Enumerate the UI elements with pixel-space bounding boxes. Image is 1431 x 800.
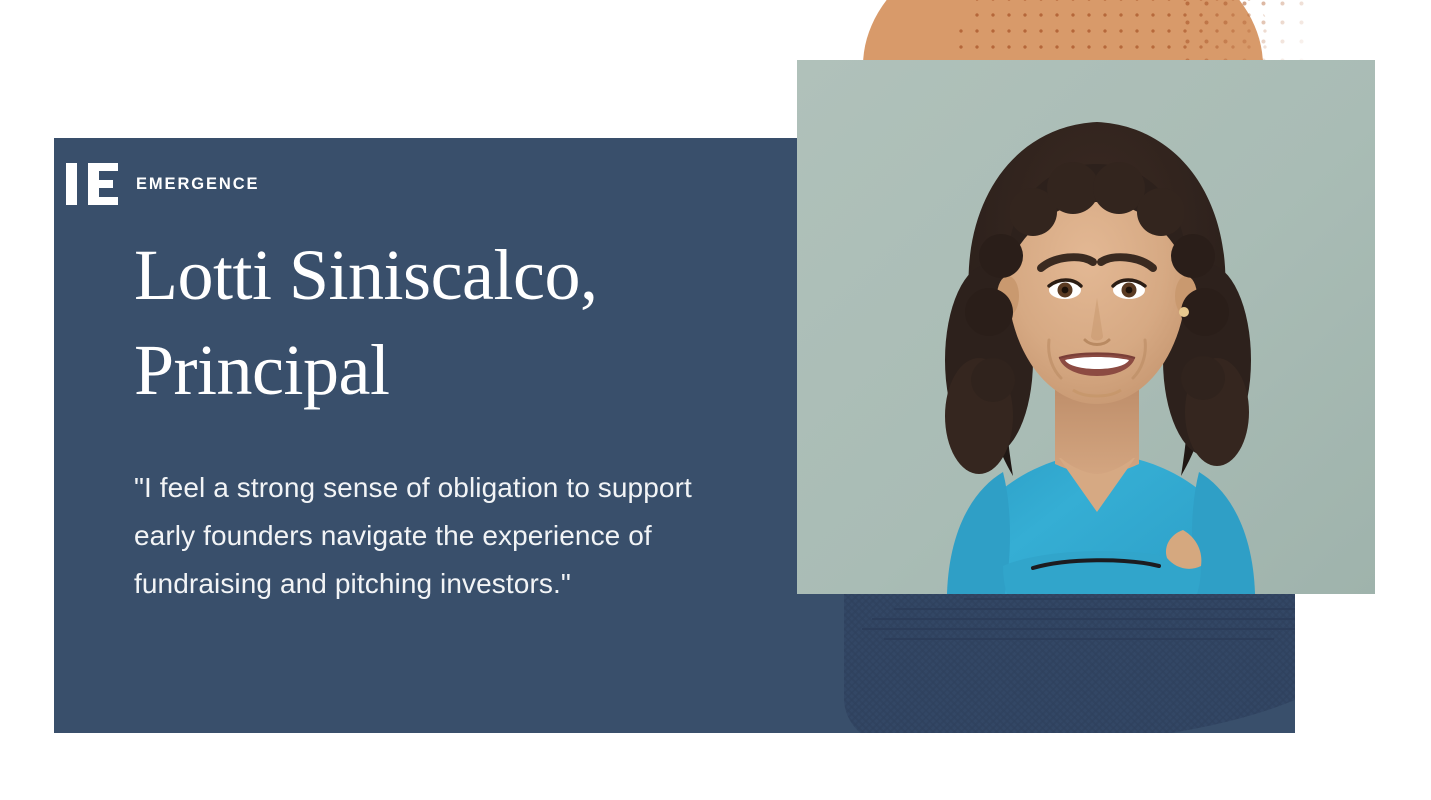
page-title: Lotti Siniscalco, Principal	[134, 228, 774, 418]
slide-canvas: EMERGENCE Lotti Siniscalco, Principal "I…	[0, 0, 1431, 800]
page-title-line-1: Lotti Siniscalco,	[134, 228, 774, 323]
pull-quote: "I feel a strong sense of obligation to …	[134, 464, 734, 608]
brand-wordmark: EMERGENCE	[136, 176, 259, 193]
orange-scatter-dots	[1178, 0, 1308, 68]
brand-logo[interactable]: EMERGENCE	[66, 163, 259, 205]
card-accent-lines	[854, 596, 1274, 656]
portrait-photo	[797, 60, 1375, 594]
page-title-line-2: Principal	[134, 323, 774, 418]
emergence-logo-mark-icon	[66, 163, 118, 205]
